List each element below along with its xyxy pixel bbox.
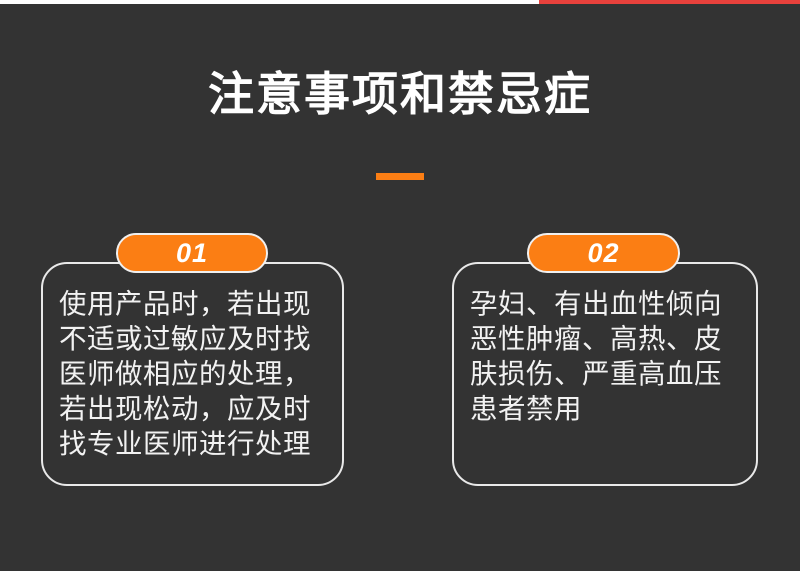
top-accent-strip-red	[539, 0, 800, 4]
info-card-02-number-badge: 02	[527, 233, 680, 273]
info-card-02-body: 孕妇、有出血性倾向恶性肿瘤、高热、皮肤损伤、严重高血压患者禁用	[470, 286, 746, 426]
info-card-02: 孕妇、有出血性倾向恶性肿瘤、高热、皮肤损伤、严重高血压患者禁用	[452, 262, 758, 486]
info-card-01-number-badge: 01	[116, 233, 268, 273]
page-title: 注意事项和禁忌症	[0, 66, 800, 122]
title-underline-bar	[376, 173, 424, 180]
info-card-01: 使用产品时，若出现不适或过敏应及时找医师做相应的处理，若出现松动，应及时找专业医…	[41, 262, 344, 486]
info-card-01-body: 使用产品时，若出现不适或过敏应及时找医师做相应的处理，若出现松动，应及时找专业医…	[59, 286, 332, 461]
poster-canvas: 注意事项和禁忌症 使用产品时，若出现不适或过敏应及时找医师做相应的处理，若出现松…	[0, 0, 800, 571]
